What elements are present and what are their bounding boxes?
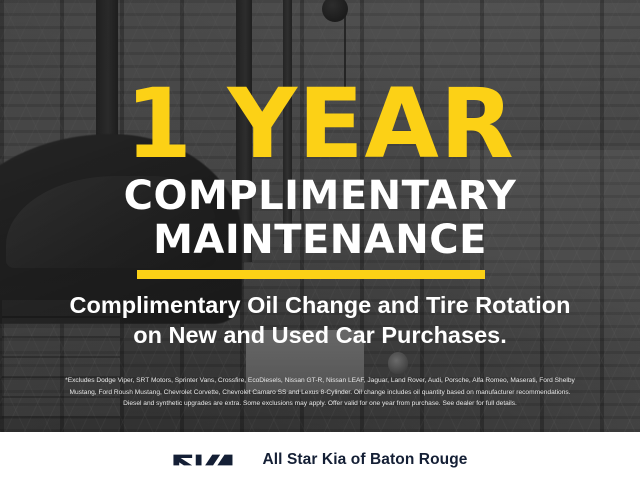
subheadline: Complimentary Oil Change and Tire Rotati… bbox=[18, 290, 622, 350]
kia-logo-icon bbox=[172, 449, 244, 471]
subheadline-line-2: on New and Used Car Purchases. bbox=[18, 320, 622, 350]
headline-one-year: 1 YEAR bbox=[0, 76, 640, 172]
accent-divider-bar bbox=[137, 270, 485, 279]
headline-complimentary: COMPLIMENTARY bbox=[0, 175, 640, 217]
legal-line-3: Diesel and synthetic upgrades are extra.… bbox=[14, 398, 626, 410]
legal-line-1: *Excludes Dodge Viper, SRT Motors, Sprin… bbox=[14, 375, 626, 387]
promo-content: 1 YEAR COMPLIMENTARY MAINTENANCE Complim… bbox=[0, 0, 640, 488]
promotional-banner: 1 YEAR COMPLIMENTARY MAINTENANCE Complim… bbox=[0, 0, 640, 488]
subheadline-line-1: Complimentary Oil Change and Tire Rotati… bbox=[18, 290, 622, 320]
dealer-footer: All Star Kia of Baton Rouge bbox=[0, 432, 640, 488]
legal-line-2: Mustang, Ford Roush Mustang, Chevrolet C… bbox=[14, 387, 626, 399]
headline-maintenance: MAINTENANCE bbox=[0, 219, 640, 261]
dealer-name-label: All Star Kia of Baton Rouge bbox=[262, 451, 467, 469]
legal-disclaimer: *Excludes Dodge Viper, SRT Motors, Sprin… bbox=[14, 375, 626, 410]
